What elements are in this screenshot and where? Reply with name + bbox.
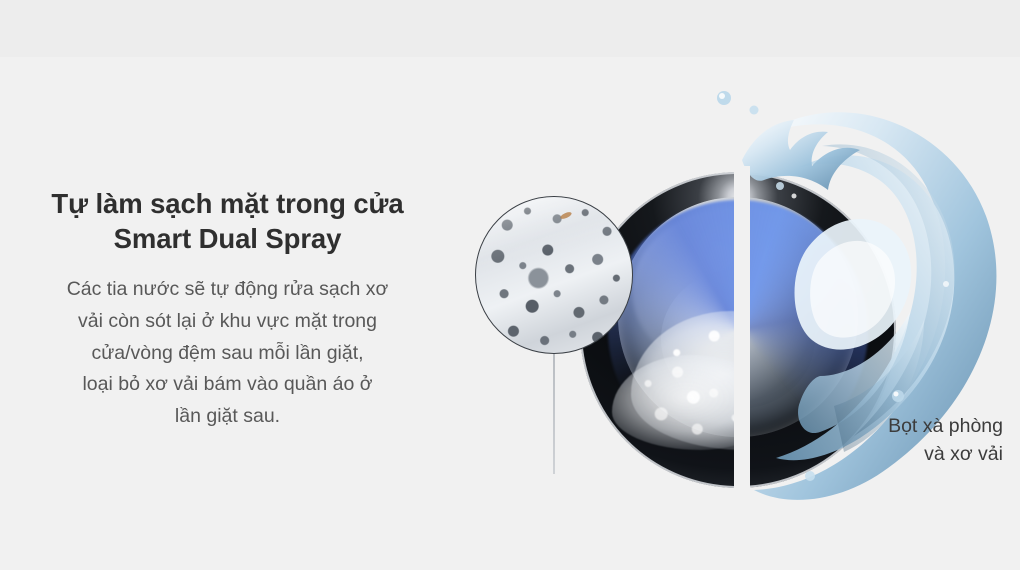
foam-sheen-icon <box>475 196 633 272</box>
description-line-3: cửa/vòng đệm sau mỗi lần giặt, <box>20 338 435 370</box>
foam-caption-line-1: Bọt xà phòng <box>838 412 1003 440</box>
description-line-5: lần giặt sau. <box>20 401 435 433</box>
description-line-1: Các tia nước sẽ tự động rửa sạch xơ <box>20 274 435 306</box>
illustration-stage: Bọt xà phòng và xơ vải Trước Sau <box>430 60 1020 530</box>
foam-caption: Bọt xà phòng và xơ vải <box>838 412 1003 469</box>
promo-banner: Tự làm sạch mặt trong cửa Smart Dual Spr… <box>0 0 1020 570</box>
headline-line-1: Tự làm sạch mặt trong cửa <box>18 186 437 221</box>
headline-line-2: Smart Dual Spray <box>18 221 437 256</box>
feature-description: Các tia nước sẽ tự động rửa sạch xơ vải … <box>0 274 455 432</box>
feature-text-column: Tự làm sạch mặt trong cửa Smart Dual Spr… <box>0 186 455 432</box>
page-title: Tự làm sạch mặt trong cửa Smart Dual Spr… <box>0 186 455 256</box>
magnifier-stem-icon <box>553 354 555 474</box>
before-after-divider <box>742 166 750 496</box>
foam-caption-line-2: và xơ vải <box>838 440 1003 468</box>
top-background-band <box>0 0 1020 57</box>
magnified-foam-inset <box>475 196 633 354</box>
description-line-4: loại bỏ xơ vải bám vào quần áo ở <box>20 369 435 401</box>
description-line-2: vải còn sót lại ở khu vực mặt trong <box>20 306 435 338</box>
